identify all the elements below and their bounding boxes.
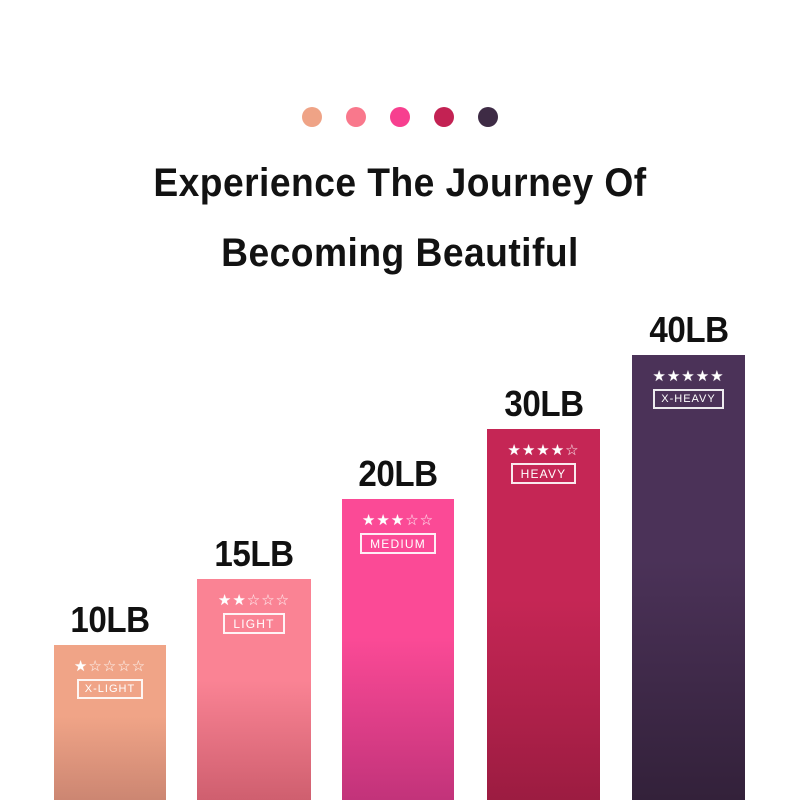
bar-15lb: ★★☆☆☆LIGHT: [197, 579, 311, 800]
bar-30lb: ★★★★☆HEAVY: [487, 429, 600, 800]
bar-strength-tag: MEDIUM: [360, 533, 436, 554]
bar-strength-tag: X-LIGHT: [77, 679, 143, 699]
star-rating-icon: ★★★★★: [652, 369, 724, 384]
bar-10lb: ★☆☆☆☆X-LIGHT: [54, 645, 166, 800]
bar-weight-label: 15LB: [214, 533, 293, 575]
star-rating-icon: ★★★☆☆: [362, 513, 434, 528]
bar-20lb: ★★★☆☆MEDIUM: [342, 499, 454, 800]
chart-column-20lb: 20LB★★★☆☆MEDIUM: [342, 499, 454, 800]
chart-column-40lb: 40LB★★★★★X-HEAVY: [632, 355, 745, 800]
bar-badge: ★★★★☆HEAVY: [487, 443, 600, 484]
bar-strength-tag: HEAVY: [511, 463, 577, 484]
star-rating-icon: ★★☆☆☆: [218, 593, 290, 608]
chart-column-30lb: 30LB★★★★☆HEAVY: [487, 429, 600, 800]
bar-weight-label: 40LB: [649, 309, 728, 351]
bar-badge: ★★★★★X-HEAVY: [632, 369, 745, 409]
promo-infographic: Experience The Journey Of Becoming Beaut…: [0, 0, 800, 800]
bar-badge: ★☆☆☆☆X-LIGHT: [54, 659, 166, 699]
bar-strength-tag: X-HEAVY: [653, 389, 723, 409]
star-rating-icon: ★☆☆☆☆: [74, 659, 146, 674]
chart-column-10lb: 10LB★☆☆☆☆X-LIGHT: [54, 645, 166, 800]
star-rating-icon: ★★★★☆: [507, 443, 579, 458]
bar-40lb: ★★★★★X-HEAVY: [632, 355, 745, 800]
bar-weight-label: 10LB: [70, 599, 149, 641]
resistance-bar-chart: 10LB★☆☆☆☆X-LIGHT15LB★★☆☆☆LIGHT20LB★★★☆☆M…: [0, 0, 800, 800]
bar-weight-label: 20LB: [358, 453, 437, 495]
bar-weight-label: 30LB: [504, 383, 583, 425]
chart-column-15lb: 15LB★★☆☆☆LIGHT: [197, 579, 311, 800]
bar-strength-tag: LIGHT: [223, 613, 284, 634]
bar-badge: ★★★☆☆MEDIUM: [342, 513, 454, 554]
bar-badge: ★★☆☆☆LIGHT: [197, 593, 311, 634]
